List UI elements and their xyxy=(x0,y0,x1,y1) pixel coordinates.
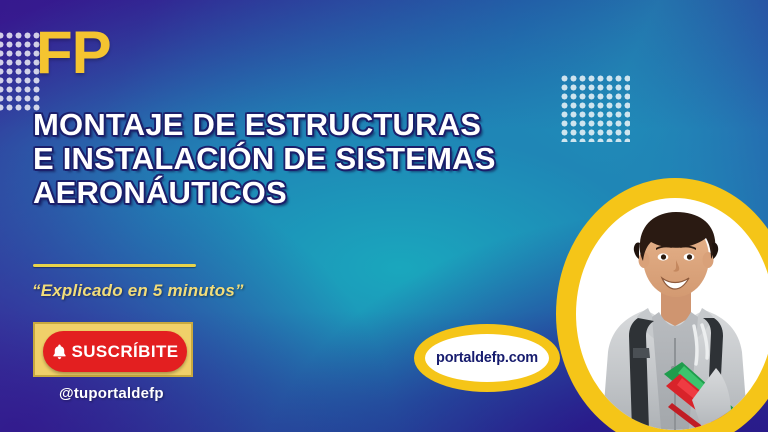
subscribe-frame: SUSCRÍBITE xyxy=(33,322,193,377)
headline-line-2: E INSTALACIÓN DE SISTEMAS xyxy=(33,142,723,176)
student-illustration xyxy=(576,198,768,430)
subscribe-button[interactable]: SUSCRÍBITE xyxy=(43,331,187,372)
headline-line-1: MONTAJE DE ESTRUCTURAS xyxy=(33,108,723,142)
student-photo-ring xyxy=(556,178,768,432)
student-photo xyxy=(576,198,768,430)
dot-grid-left-decoration xyxy=(0,31,40,113)
website-url: portaldefp.com xyxy=(436,350,538,366)
website-badge-ring: portaldefp.com xyxy=(414,324,560,392)
channel-handle: @tuportaldefp xyxy=(59,385,164,402)
tagline-text: “Explicado en 5 minutos” xyxy=(32,281,244,301)
bell-icon xyxy=(52,344,67,360)
website-badge[interactable]: portaldefp.com xyxy=(425,334,549,382)
fp-logo: FP xyxy=(36,23,111,83)
subscribe-label: SUSCRÍBITE xyxy=(72,342,179,362)
thumbnail-canvas: FP MONTAJE DE ESTRUCTURAS E INSTALACIÓN … xyxy=(0,0,768,432)
title-divider xyxy=(33,264,196,267)
